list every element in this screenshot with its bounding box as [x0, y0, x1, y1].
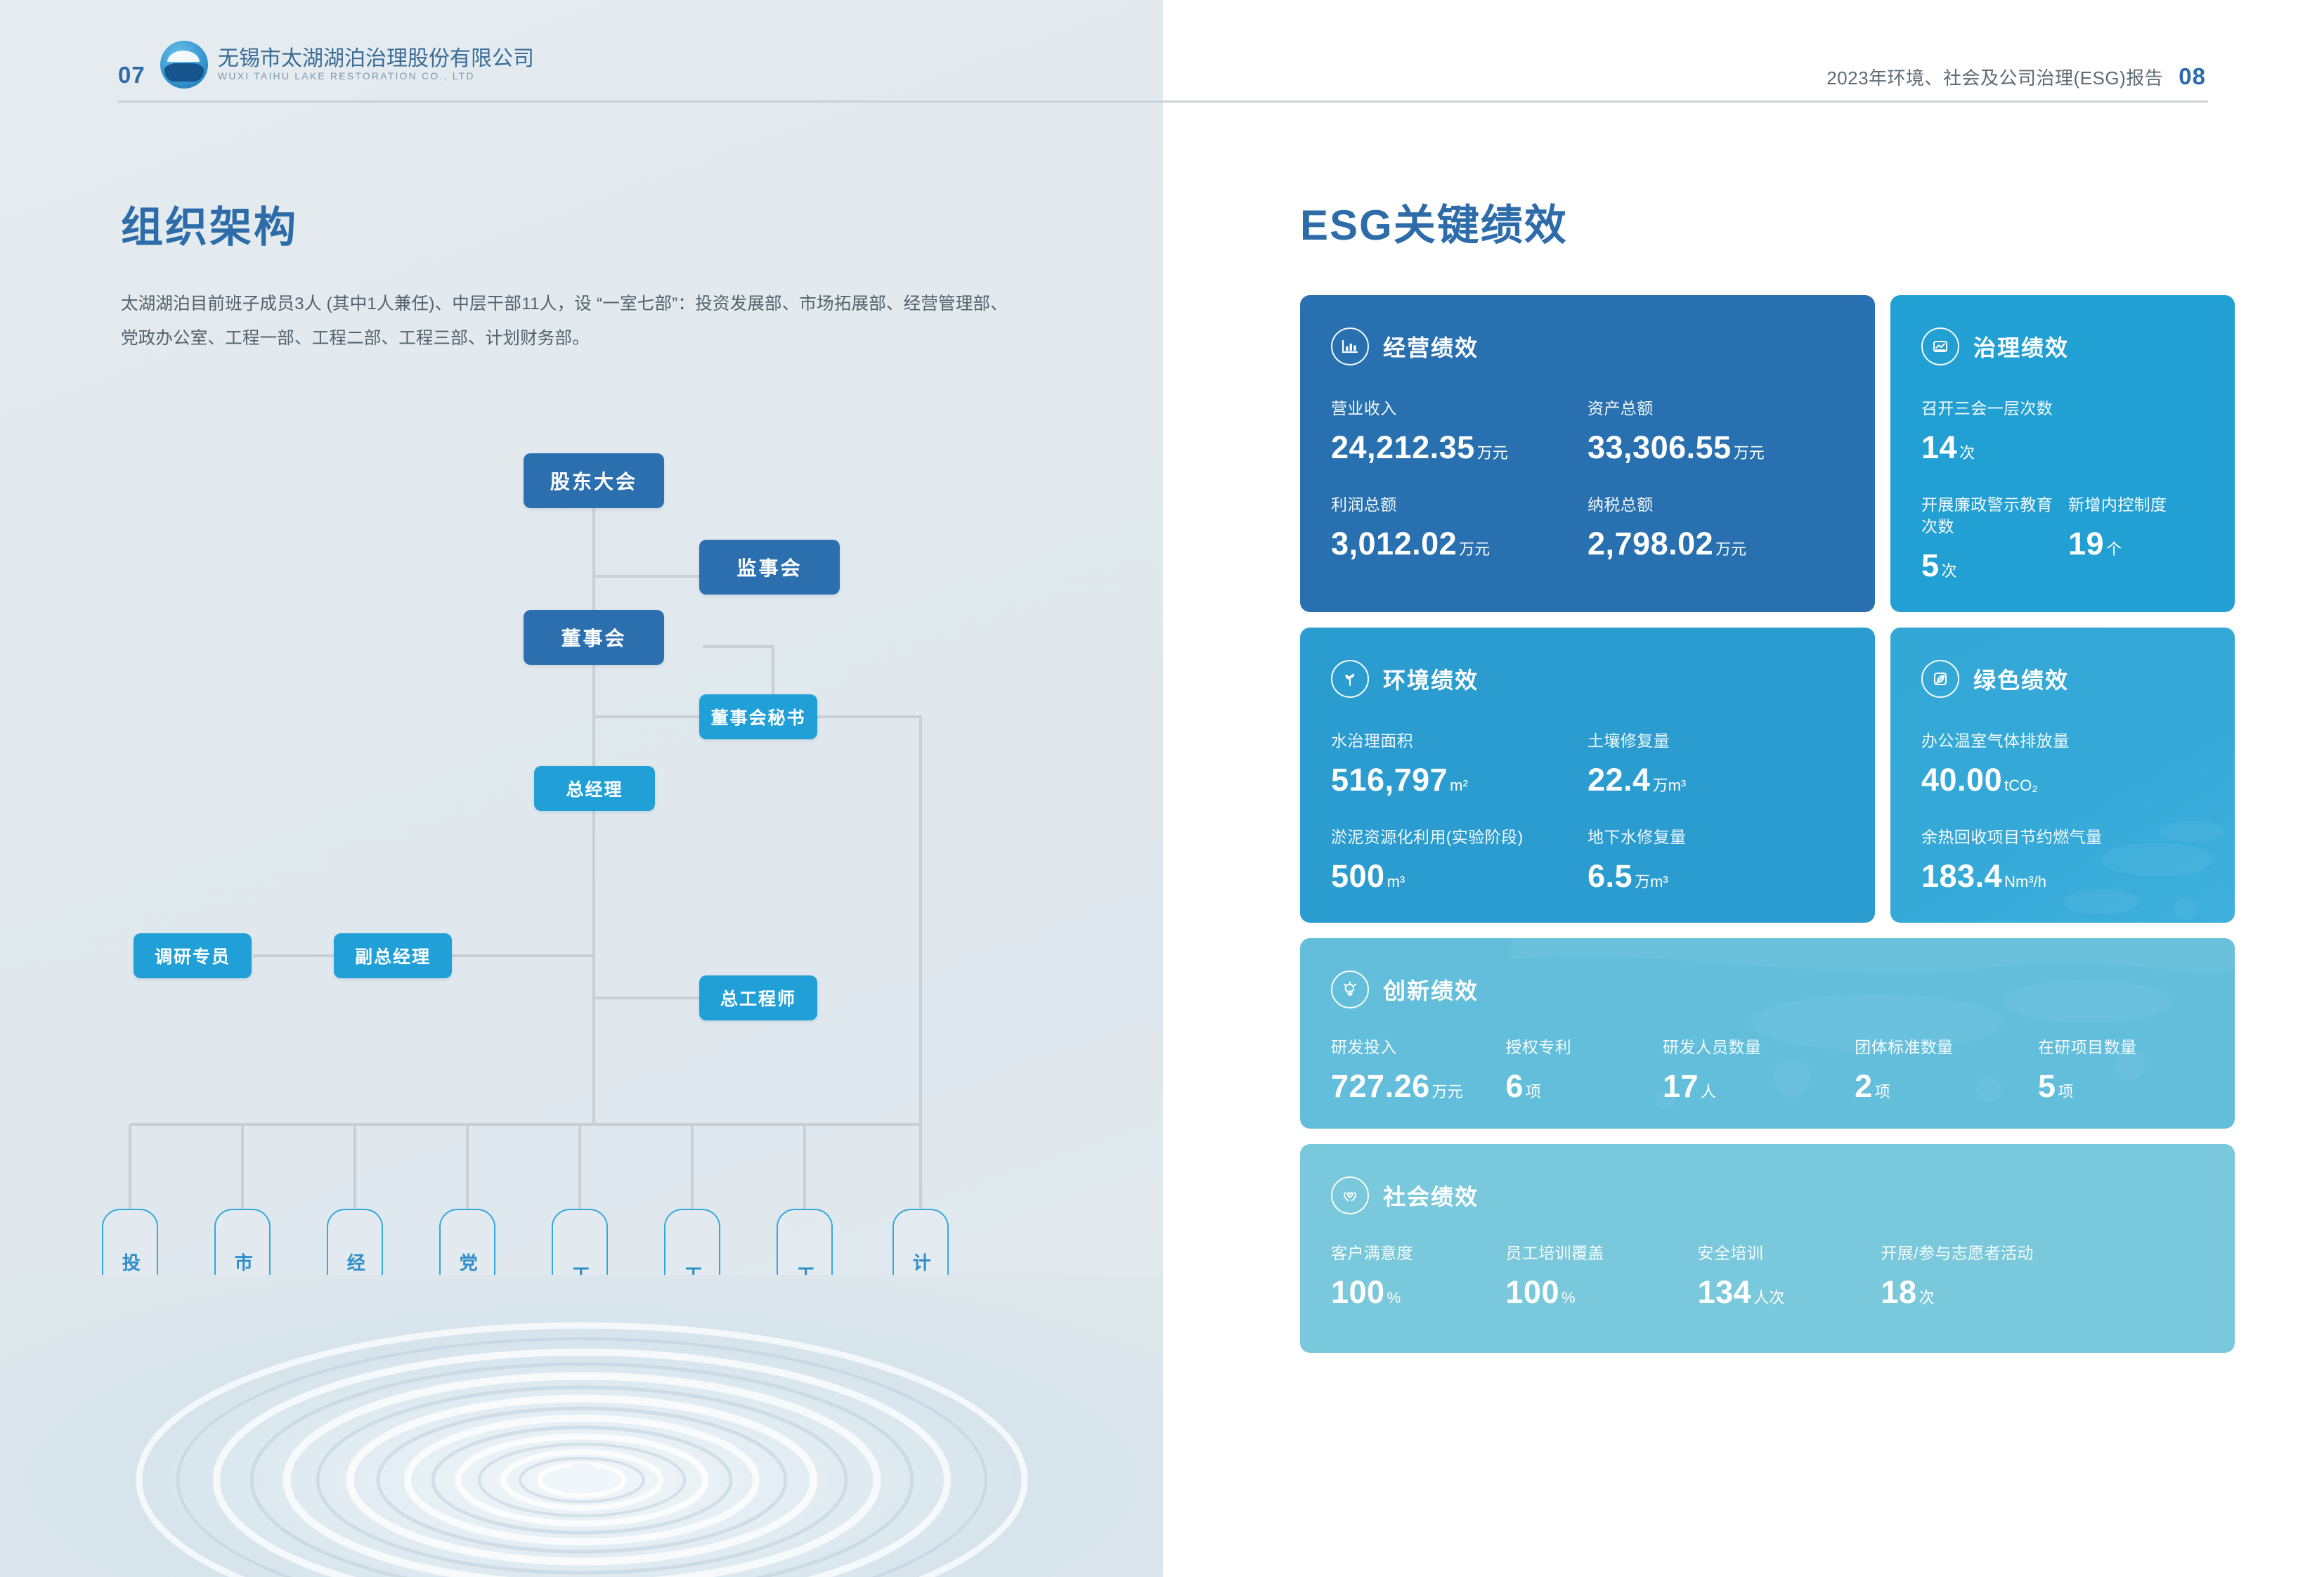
metric-value: 19	[2068, 526, 2104, 562]
metric-label: 研发投入	[1331, 1037, 1505, 1058]
card-title: 环境绩效	[1383, 663, 1479, 695]
org-node-label: 董事会	[561, 623, 626, 651]
metric-unit: %	[1387, 1289, 1401, 1307]
org-node-chief-engineer[interactable]: 总工程师	[699, 975, 817, 1020]
card-metrics: 办公温室气体排放量 40.00tCO₂ 余热回收项目节约燃气量 183.4Nm³…	[1921, 730, 2204, 895]
card-environment-performance[interactable]: 环境绩效 水治理面积 516,797m² 土壤修复量 22.4万m³ 淤泥资源化…	[1300, 628, 1875, 923]
metric-label: 利润总额	[1331, 494, 1588, 516]
bar-chart-icon	[1331, 327, 1369, 365]
metric-label: 纳税总额	[1588, 494, 1844, 516]
card-header: 经营绩效	[1331, 327, 1844, 365]
metric-label: 召开三会一层次数	[1921, 398, 2204, 420]
metric-unit: %	[1562, 1289, 1576, 1307]
card-title: 创新绩效	[1383, 973, 1479, 1006]
metric-value: 183.4	[1921, 858, 2002, 895]
report-title: 2023年环境、社会及公司治理(ESG)报告	[1826, 64, 2163, 90]
right-header-text: 2023年环境、社会及公司治理(ESG)报告 08	[1826, 63, 2206, 90]
metric-unit: m²	[1450, 777, 1468, 795]
water-ripple-graphic	[0, 1275, 1163, 1577]
company-logo: 无锡市太湖湖泊治理股份有限公司 WUXI TAIHU LAKE RESTORAT…	[160, 41, 534, 89]
metric-label: 授权专利	[1505, 1037, 1663, 1058]
org-node-label: 调研专员	[155, 943, 231, 968]
metric-label: 客户满意度	[1331, 1242, 1505, 1264]
metric-item: 开展/参与志愿者活动 18次	[1881, 1242, 2204, 1311]
card-metrics: 水治理面积 516,797m² 土壤修复量 22.4万m³ 淤泥资源化利用(实验…	[1331, 730, 1844, 895]
metric-value: 5	[2038, 1068, 2056, 1105]
metric-value: 24,212.35	[1331, 429, 1475, 466]
metric-value: 18	[1881, 1274, 1916, 1311]
org-chart-connectors	[0, 422, 1163, 1265]
page-title-left: 组织架构	[121, 193, 298, 254]
logo-text: 无锡市太湖湖泊治理股份有限公司 WUXI TAIHU LAKE RESTORAT…	[218, 47, 534, 82]
metric-unit: 万元	[1734, 441, 1765, 463]
metric-label: 在研项目数量	[2038, 1037, 2204, 1058]
card-metrics: 客户满意度 100% 员工培训覆盖 100% 安全培训 134人次 开展/参	[1331, 1242, 2204, 1311]
metric-label: 淤泥资源化利用(实验阶段)	[1331, 826, 1588, 848]
metric-label: 办公温室气体排放量	[1921, 730, 2204, 752]
right-page-number: 08	[2179, 63, 2206, 90]
metric-label: 余热回收项目节约燃气量	[1921, 826, 2204, 848]
metric-value: 17	[1663, 1068, 1699, 1105]
metric-item: 资产总额 33,306.55万元	[1588, 398, 1844, 466]
metric-value: 40.00	[1921, 762, 2002, 798]
card-social-performance[interactable]: 社会绩效 客户满意度 100% 员工培训覆盖 100% 安全培训	[1300, 1144, 2235, 1353]
page-title-right: ESG关键绩效	[1300, 191, 1568, 252]
card-business-performance[interactable]: 经营绩效 营业收入 24,212.35万元 资产总额 33,306.55万元 利…	[1300, 295, 1875, 612]
metric-value: 134	[1698, 1274, 1752, 1311]
leaf-sprout-icon	[1331, 660, 1369, 698]
metric-value: 2	[1855, 1068, 1873, 1105]
metric-unit: tCO₂	[2004, 777, 2038, 795]
header-divider-left	[118, 100, 1163, 103]
metric-value: 14	[1921, 429, 1957, 466]
metric-label: 水治理面积	[1331, 730, 1588, 752]
metric-unit: 万元	[1459, 537, 1490, 559]
org-node-label: 董事会秘书	[710, 704, 805, 729]
card-header: 环境绩效	[1331, 660, 1844, 698]
metric-value: 6.5	[1588, 858, 1632, 895]
metric-label: 团体标准数量	[1855, 1037, 2038, 1058]
org-node-board-of-directors[interactable]: 董事会	[524, 610, 664, 665]
metric-value: 500	[1331, 858, 1385, 895]
left-page-header: 07 无锡市太湖湖泊治理股份有限公司 WUXI TAIHU LAKE RESTO…	[0, 0, 1163, 105]
org-node-supervisory-board[interactable]: 监事会	[699, 540, 840, 595]
metric-unit: 项	[1875, 1079, 1890, 1102]
org-node-label: 总工程师	[720, 985, 796, 1011]
metric-unit: Nm³/h	[2004, 873, 2046, 891]
metric-item: 研发人员数量 17人	[1663, 1037, 1855, 1105]
metric-value: 22.4	[1588, 762, 1651, 798]
metric-label: 资产总额	[1588, 398, 1844, 420]
metric-unit: 万元	[1477, 441, 1508, 463]
metric-value: 2,798.02	[1588, 526, 1713, 562]
metric-value: 100	[1505, 1274, 1559, 1311]
metric-item: 客户满意度 100%	[1331, 1242, 1505, 1311]
metric-label: 员工培训覆盖	[1505, 1242, 1697, 1264]
esg-performance-cards: 经营绩效 营业收入 24,212.35万元 资产总额 33,306.55万元 利…	[1300, 295, 2235, 1353]
card-title: 社会绩效	[1383, 1179, 1479, 1212]
metric-label: 研发人员数量	[1663, 1037, 1855, 1058]
metric-item: 地下水修复量 6.5万m³	[1588, 826, 1844, 895]
card-metrics: 营业收入 24,212.35万元 资产总额 33,306.55万元 利润总额 3…	[1331, 398, 1844, 562]
lightbulb-icon	[1331, 971, 1369, 1008]
metric-item: 召开三会一层次数 14次	[1921, 398, 2204, 466]
lake-bird-logo-icon	[160, 41, 208, 89]
metric-item: 团体标准数量 2项	[1855, 1037, 2038, 1105]
metric-unit: 次	[1942, 559, 1957, 581]
org-node-label: 股东大会	[550, 467, 637, 495]
metric-value: 3,012.02	[1331, 526, 1457, 562]
metric-value: 5	[1921, 547, 1940, 584]
card-header: 创新绩效	[1331, 971, 2204, 1008]
card-title: 治理绩效	[1973, 330, 2069, 363]
card-governance-performance[interactable]: 治理绩效 召开三会一层次数 14次 开展廉政警示教育次数 5次 新增内控制度	[1890, 295, 2235, 612]
metric-unit: 万元	[1715, 537, 1746, 559]
metric-unit: 万m³	[1635, 869, 1668, 892]
card-row-2: 环境绩效 水治理面积 516,797m² 土壤修复量 22.4万m³ 淤泥资源化…	[1300, 628, 2235, 923]
water-ripple-photo	[0, 1275, 1163, 1577]
card-metrics: 研发投入 727.26万元 授权专利 6项 研发人员数量 17人 团体标准数	[1331, 1037, 2204, 1105]
metric-value: 727.26	[1331, 1068, 1430, 1105]
metric-unit: 项	[2058, 1079, 2074, 1102]
org-node-label: 总经理	[566, 776, 623, 801]
governance-chart-icon	[1921, 327, 1959, 365]
metric-label: 开展廉政警示教育次数	[1921, 494, 2068, 538]
metric-item: 安全培训 134人次	[1698, 1242, 1881, 1311]
metric-item: 水治理面积 516,797m²	[1331, 730, 1588, 798]
metric-unit: 次	[1959, 441, 1975, 463]
card-header: 治理绩效	[1921, 327, 2204, 365]
org-node-deputy-general-manager[interactable]: 副总经理	[334, 933, 452, 978]
metric-item: 研发投入 727.26万元	[1331, 1037, 1505, 1105]
metric-item: 淤泥资源化利用(实验阶段) 500m³	[1331, 826, 1588, 895]
metric-label: 土壤修复量	[1588, 730, 1844, 752]
left-page: 07 无锡市太湖湖泊治理股份有限公司 WUXI TAIHU LAKE RESTO…	[0, 0, 1163, 1577]
metric-item: 授权专利 6项	[1505, 1037, 1663, 1105]
card-header: 绿色绩效	[1921, 660, 2204, 698]
card-title: 绿色绩效	[1973, 663, 2069, 695]
org-node-label: 副总经理	[355, 943, 431, 968]
metric-value: 33,306.55	[1588, 429, 1732, 466]
metric-label: 地下水修复量	[1588, 826, 1844, 848]
card-row-4: 社会绩效 客户满意度 100% 员工培训覆盖 100% 安全培训	[1300, 1144, 2235, 1353]
card-row-1: 经营绩效 营业收入 24,212.35万元 资产总额 33,306.55万元 利…	[1300, 295, 2235, 612]
metric-label: 营业收入	[1331, 398, 1588, 420]
hands-heart-icon	[1331, 1176, 1369, 1214]
card-green-performance[interactable]: 绿色绩效 办公温室气体排放量 40.00tCO₂ 余热回收项目节约燃气量 183…	[1890, 628, 2235, 923]
metric-item: 在研项目数量 5项	[2038, 1037, 2204, 1105]
card-innovation-performance[interactable]: 创新绩效 研发投入 727.26万元 授权专利 6项 研发人员数量	[1300, 938, 2235, 1129]
card-row-3: 创新绩效 研发投入 727.26万元 授权专利 6项 研发人员数量	[1300, 938, 2235, 1129]
metric-unit: 人	[1701, 1079, 1716, 1102]
org-chart: 股东大会 监事会 董事会 董事会秘书 总经理 调研专员 副总经理 总工程师	[0, 422, 1163, 1265]
metric-value: 6	[1505, 1068, 1524, 1105]
metric-item: 办公温室气体排放量 40.00tCO₂	[1921, 730, 2204, 798]
org-structure-description: 太湖湖泊目前班子成员3人 (其中1人兼任)、中层干部11人，设 “一室七部”：投…	[121, 287, 1020, 356]
card-title: 经营绩效	[1383, 330, 1479, 363]
org-node-general-manager[interactable]: 总经理	[534, 766, 655, 811]
metric-label: 新增内控制度	[2068, 494, 2204, 516]
right-page-header: 2023年环境、社会及公司治理(ESG)报告 08	[1163, 0, 2324, 105]
header-divider-right	[1163, 100, 2208, 103]
card-header: 社会绩效	[1331, 1176, 2204, 1214]
metric-unit: 项	[1526, 1079, 1541, 1102]
org-node-board-secretary[interactable]: 董事会秘书	[699, 694, 817, 739]
metric-item: 新增内控制度 19个	[2068, 494, 2204, 584]
metric-item: 员工培训覆盖 100%	[1505, 1242, 1697, 1311]
left-page-number: 07	[118, 62, 145, 89]
metric-unit: 万元	[1432, 1079, 1463, 1102]
org-node-research-officer[interactable]: 调研专员	[134, 933, 252, 978]
report-spread: 07 无锡市太湖湖泊治理股份有限公司 WUXI TAIHU LAKE RESTO…	[0, 0, 2324, 1577]
metric-label: 安全培训	[1698, 1242, 1881, 1264]
metric-item: 纳税总额 2,798.02万元	[1588, 494, 1844, 562]
metric-unit: m³	[1387, 873, 1406, 891]
metric-value: 516,797	[1331, 762, 1448, 798]
metric-item: 余热回收项目节约燃气量 183.4Nm³/h	[1921, 826, 2204, 895]
metric-item: 利润总额 3,012.02万元	[1331, 494, 1588, 562]
org-node-label: 监事会	[736, 553, 802, 581]
metric-unit: 个	[2106, 537, 2122, 559]
metric-item: 开展廉政警示教育次数 5次	[1921, 494, 2068, 584]
org-node-shareholders[interactable]: 股东大会	[524, 453, 664, 508]
metric-unit: 人次	[1753, 1285, 1784, 1308]
metric-unit: 次	[1919, 1285, 1935, 1308]
metric-value: 100	[1331, 1274, 1385, 1311]
metric-item: 营业收入 24,212.35万元	[1331, 398, 1588, 466]
leaf-circle-icon	[1921, 660, 1959, 698]
metric-label: 开展/参与志愿者活动	[1881, 1242, 2204, 1264]
logo-company-name-cn: 无锡市太湖湖泊治理股份有限公司	[218, 47, 534, 71]
logo-company-name-en: WUXI TAIHU LAKE RESTORATION CO., LTD	[218, 70, 534, 82]
metric-unit: 万m³	[1653, 773, 1687, 796]
card-metrics: 召开三会一层次数 14次 开展廉政警示教育次数 5次 新增内控制度 19个	[1921, 398, 2204, 584]
metric-item: 土壤修复量 22.4万m³	[1588, 730, 1844, 798]
